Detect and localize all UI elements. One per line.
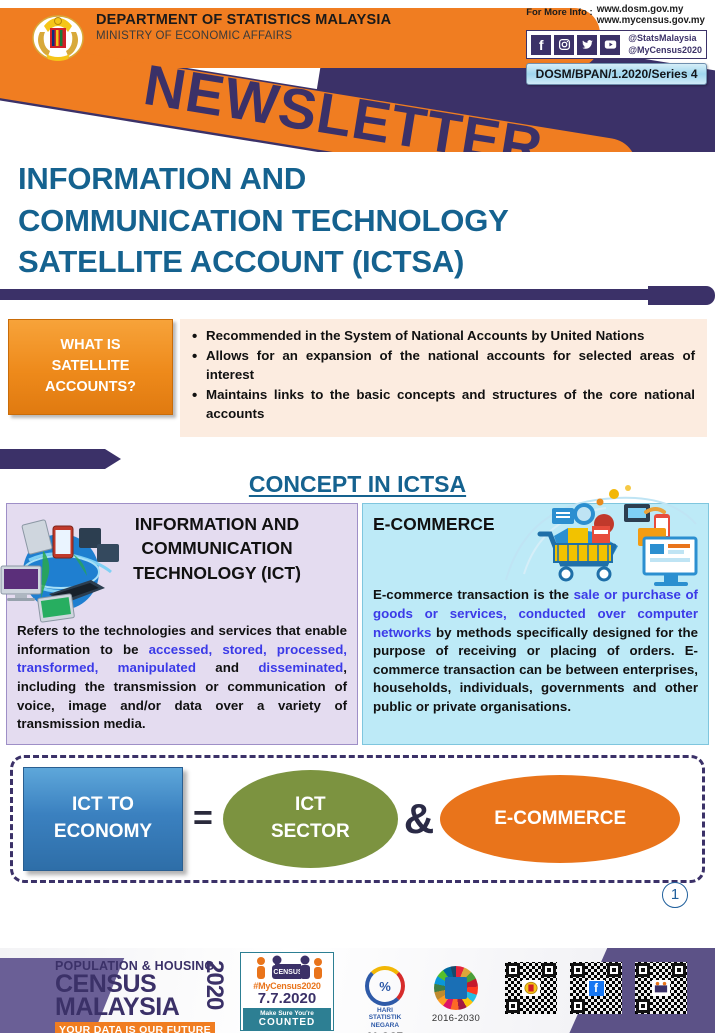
hari-label-line-3: NEGARA [355,1022,415,1029]
facebook-icon[interactable]: f [531,35,551,55]
hari-statistik-negara-logo: % HARI STATISTIK NEGARA 20 OCT [355,966,415,1033]
ict-panel: INFORMATION AND COMMUNICATION TECHNOLOGY… [6,503,358,745]
satellite-accounts-section: WHAT IS SATELLITE ACCOUNTS? Recommended … [8,319,707,437]
handle-mycensus2020[interactable]: @MyCensus2020 [628,45,702,56]
hari-label-line-2: STATISTIK [355,1014,415,1021]
qr-code-facebook-icon[interactable]: f [570,962,622,1014]
youtube-icon[interactable] [600,35,620,55]
website-link-mycensus[interactable]: www.mycensus.gov.my [597,15,705,26]
eq-green-line-1: ICT [295,792,326,819]
sdg-logo: 2016-2030 [420,966,492,1024]
department-title: DEPARTMENT OF STATISTICS MALAYSIA [96,12,391,28]
equals-sign: = [193,799,213,838]
department-header: DEPARTMENT OF STATISTICS MALAYSIA MINIST… [96,12,391,42]
mycensus-date: 7.7.2020 [243,991,331,1006]
sat-button-line-2: SATELLITE [52,356,130,377]
handle-statsmalaysia[interactable]: @StatsMalaysia [628,33,702,44]
eq-green-line-2: SECTOR [271,819,350,846]
qr-code-census-icon[interactable] [635,962,687,1014]
sat-button-line-3: ACCOUNTS? [45,377,136,398]
ict-sector-oval: ICT SECTOR [223,770,398,868]
title-divider [0,289,715,305]
sdg-caption: 2016-2030 [420,1013,492,1024]
eq-box-line-1: ICT TO [72,792,134,819]
percent-symbol: % [379,979,391,994]
ampersand-sign: & [404,795,434,843]
census-logo-tagline: YOUR DATA IS OUR FUTURE [55,1022,215,1033]
page-header: NEWSLETTER DEPARTMENT OF STATISTICS MALA… [0,0,715,152]
hari-label-line-1: HARI [355,1007,415,1014]
svg-text:CENSUS: CENSUS [273,969,303,976]
page-number: 1 [662,882,688,908]
globe-devices-icon [0,510,119,628]
shopping-cart-online-icon [496,482,706,602]
social-media-box: f @StatsMalaysia @MyCensus [526,30,707,60]
more-info-label: For More Info : [526,4,593,18]
series-badge: DOSM/BPAN/1.2020/Series 4 [526,63,707,85]
mycensus-footer-note: Make Sure You're COUNTED [243,1008,331,1030]
page-title-line-1: INFORMATION AND [18,158,715,200]
twitter-icon[interactable] [577,35,597,55]
sat-button-line-1: WHAT IS [60,335,120,356]
instagram-icon[interactable] [554,35,574,55]
census-2020-logo: POPULATION & HOUSING CENSUS MALAYSIA 202… [55,960,230,1033]
ecommerce-panel: E-COMMERCE E-commerce transaction is the… [362,503,709,745]
list-item: Recommended in the System of National Ac… [190,327,695,346]
contact-info-block: For More Info : www.dosm.gov.my www.myce… [526,4,707,85]
ict-to-economy-equation: ICT TO ECONOMY = ICT SECTOR & E-COMMERCE… [10,755,705,883]
mycensus-note-big: COUNTED [243,1017,331,1028]
mycensus-badge: CENSUS #MyCensus2020 7.7.2020 Make Sure … [240,952,334,1031]
ict-text-b: and [196,660,258,675]
section-divider [0,447,715,469]
census-logo-year: 2020 [202,960,226,1009]
page-title-line-2: COMMUNICATION TECHNOLOGY [18,200,715,242]
list-item: Allows for an expansion of the national … [190,347,695,384]
what-is-satellite-accounts-button[interactable]: WHAT IS SATELLITE ACCOUNTS? [8,319,173,415]
concept-panels: INFORMATION AND COMMUNICATION TECHNOLOGY… [0,503,715,745]
mycensus-note-small: Make Sure You're [260,1010,314,1017]
eq-box-line-2: ECONOMY [54,819,152,846]
sdg-color-wheel-icon [434,966,478,1010]
malaysia-coat-of-arms-icon [30,8,86,64]
ecommerce-panel-text: E-commerce transaction is the sale or pu… [373,586,698,716]
census-people-icon: CENSUS [243,955,331,981]
ict-text-highlight-2: disseminated [258,660,343,675]
page-title-line-3: SATELLITE ACCOUNT (ICTSA) [18,241,715,283]
ict-to-economy-box: ICT TO ECONOMY [23,767,183,871]
ecommerce-oval: E-COMMERCE [440,775,680,863]
page-footer: POPULATION & HOUSING CENSUS MALAYSIA 202… [0,948,715,1033]
qr-code-dosm-icon[interactable] [505,962,557,1014]
department-subtitle: MINISTRY OF ECONOMIC AFFAIRS [96,30,391,42]
website-link-dosm[interactable]: www.dosm.gov.my [597,4,705,15]
list-item: Maintains links to the basic concepts an… [190,386,695,423]
page-title: INFORMATION AND COMMUNICATION TECHNOLOGY… [18,158,715,283]
ict-panel-text: Refers to the technologies and services … [17,622,347,734]
satellite-accounts-description: Recommended in the System of National Ac… [180,319,707,437]
percent-ring-icon: % [365,966,405,1006]
